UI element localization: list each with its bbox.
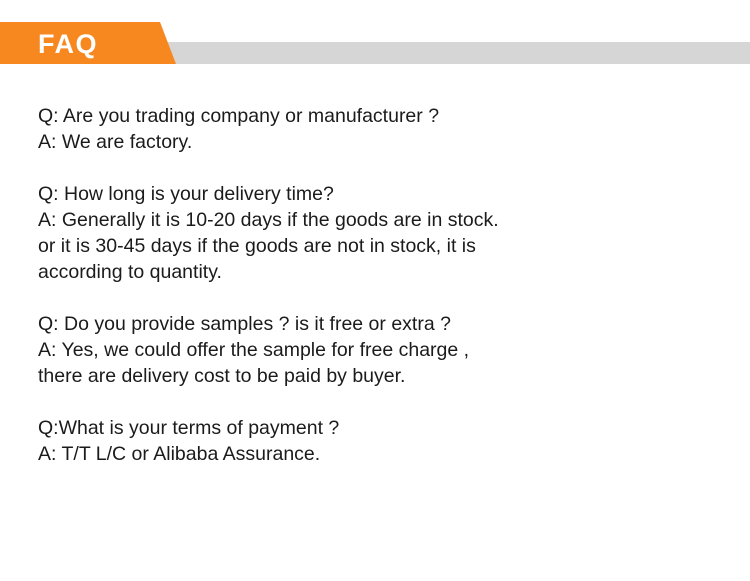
faq-header-band: FAQ xyxy=(0,0,750,80)
faq-item: Q: Are you trading company or manufactur… xyxy=(38,103,710,155)
faq-item: Q: How long is your delivery time? A: Ge… xyxy=(38,181,710,285)
faq-question: Q: How long is your delivery time? xyxy=(38,181,710,207)
faq-content: Q: Are you trading company or manufactur… xyxy=(38,103,710,467)
faq-page: FAQ Q: Are you trading company or manufa… xyxy=(0,0,750,581)
faq-question: Q:What is your terms of payment ? xyxy=(38,415,710,441)
faq-answer: A: Yes, we could offer the sample for fr… xyxy=(38,337,710,389)
faq-answer: A: Generally it is 10-20 days if the goo… xyxy=(38,207,710,285)
page-title: FAQ xyxy=(38,28,98,60)
faq-answer: A: T/T L/C or Alibaba Assurance. xyxy=(38,441,710,467)
faq-item: Q: Do you provide samples ? is it free o… xyxy=(38,311,710,389)
faq-item: Q:What is your terms of payment ? A: T/T… xyxy=(38,415,710,467)
faq-question: Q: Are you trading company or manufactur… xyxy=(38,103,710,129)
header-gray-bar xyxy=(155,42,750,64)
faq-question: Q: Do you provide samples ? is it free o… xyxy=(38,311,710,337)
faq-answer: A: We are factory. xyxy=(38,129,710,155)
